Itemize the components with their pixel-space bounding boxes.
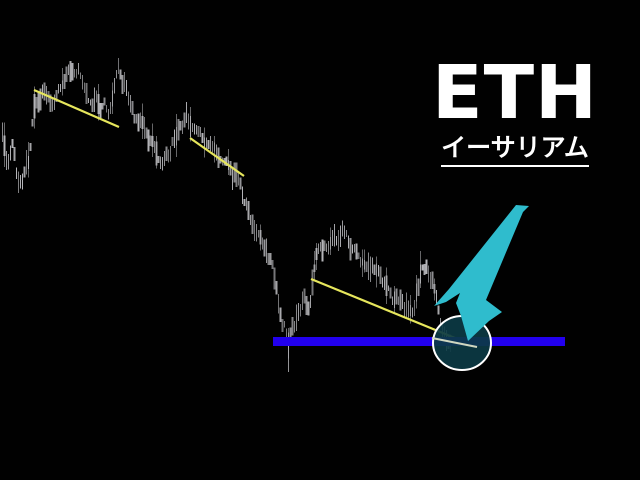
page-title: ETH xyxy=(400,58,630,128)
title-block: ETH イーサリアム xyxy=(400,58,630,167)
subtitle-label: イーサリアム xyxy=(441,134,589,167)
support-level-line xyxy=(273,337,565,346)
screenshot-canvas: ETH イーサリアム xyxy=(0,0,640,480)
